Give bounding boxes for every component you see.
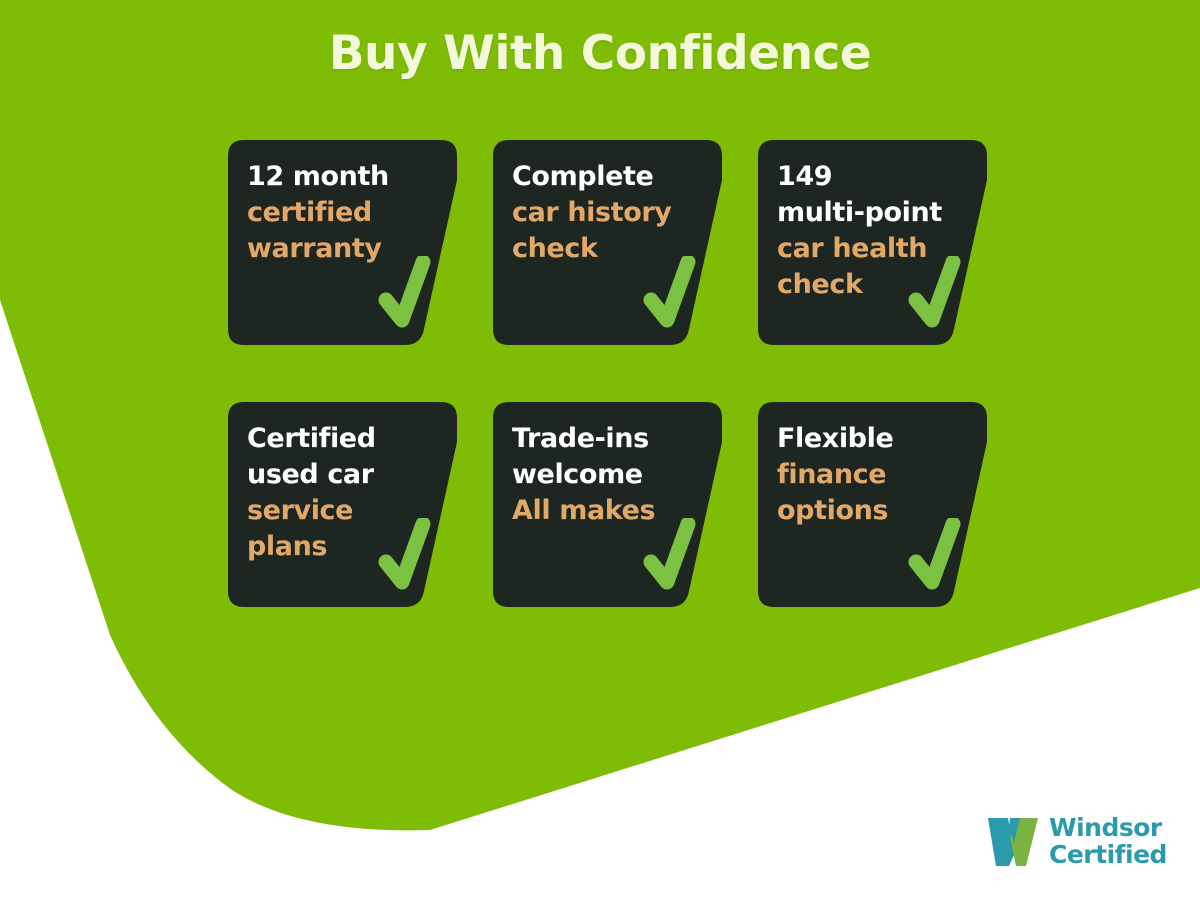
windsor-w-mark-icon [982, 813, 1040, 869]
check-tick-icon [378, 518, 436, 596]
check-tick-icon [908, 518, 966, 596]
feature-card-row-2: Certified used car service plans Trade-i… [228, 402, 988, 607]
card-text-trade-ins: Trade-ins welcome All makes [512, 421, 694, 529]
feature-card-grid: 12 month certified warranty Complete car… [228, 140, 988, 607]
card-line: finance [777, 457, 959, 493]
card-line: Flexible [777, 421, 959, 457]
check-tick-icon [908, 256, 966, 334]
page-title: Buy With Confidence [0, 26, 1200, 81]
check-tick-icon [378, 256, 436, 334]
card-line: car history [512, 195, 694, 231]
card-line: Complete [512, 159, 694, 195]
poster-canvas: Buy With Confidence 12 month certified w… [0, 0, 1200, 900]
logo-line-1: Windsor [1049, 814, 1167, 842]
card-text-history-check: Complete car history check [512, 159, 694, 267]
card-line: welcome [512, 457, 694, 493]
card-line: 149 [777, 159, 959, 195]
feature-card-history-check[interactable]: Complete car history check [493, 140, 722, 345]
card-line: 12 month [247, 159, 429, 195]
feature-card-trade-ins[interactable]: Trade-ins welcome All makes [493, 402, 722, 607]
feature-card-health-check[interactable]: 149 multi-point car health check [758, 140, 987, 345]
feature-card-finance[interactable]: Flexible finance options [758, 402, 987, 607]
check-tick-icon [643, 518, 701, 596]
feature-card-warranty[interactable]: 12 month certified warranty [228, 140, 457, 345]
card-line: used car [247, 457, 429, 493]
card-text-warranty: 12 month certified warranty [247, 159, 429, 267]
feature-card-row-1: 12 month certified warranty Complete car… [228, 140, 988, 345]
check-tick-icon [643, 256, 701, 334]
logo-line-2: Certified [1049, 841, 1167, 869]
card-line: certified [247, 195, 429, 231]
logo-wordmark: Windsor Certified [1049, 814, 1167, 869]
feature-card-service-plans[interactable]: Certified used car service plans [228, 402, 457, 607]
card-line: multi-point [777, 195, 959, 231]
card-line: Certified [247, 421, 429, 457]
card-line: Trade-ins [512, 421, 694, 457]
card-text-finance: Flexible finance options [777, 421, 959, 529]
windsor-certified-logo[interactable]: Windsor Certified [982, 813, 1167, 869]
